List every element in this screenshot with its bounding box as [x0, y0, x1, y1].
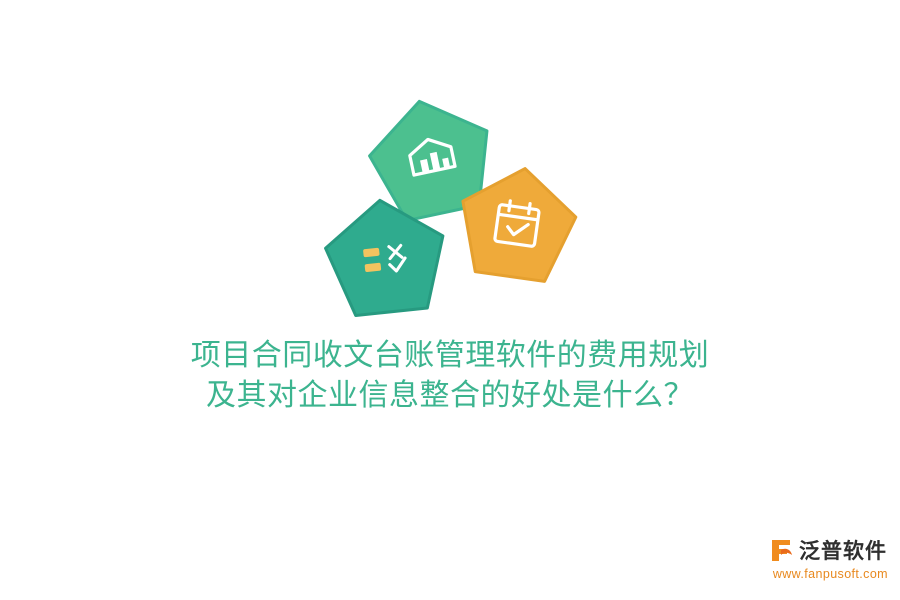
brand-name: 泛普软件	[799, 535, 887, 565]
page-canvas: 项目合同收文台账管理软件的费用规划 及其对企业信息整合的好处是什么？ 泛普软件 …	[0, 0, 900, 600]
brand-watermark: 泛普软件 www.fanpusoft.com	[768, 536, 888, 584]
calendar-pentagon	[452, 163, 582, 289]
brand-url: www.fanpusoft.com	[768, 567, 888, 581]
page-title: 项目合同收文台账管理软件的费用规划 及其对企业信息整合的好处是什么？	[0, 336, 900, 416]
fanpu-logo-icon	[768, 537, 794, 563]
three-pentagon-icon-cluster	[318, 95, 582, 325]
page-title-line-1: 项目合同收文台账管理软件的费用规划	[0, 336, 900, 376]
checklist-pentagon	[318, 194, 454, 324]
page-title-line-2: 及其对企业信息整合的好处是什么？	[0, 376, 900, 416]
